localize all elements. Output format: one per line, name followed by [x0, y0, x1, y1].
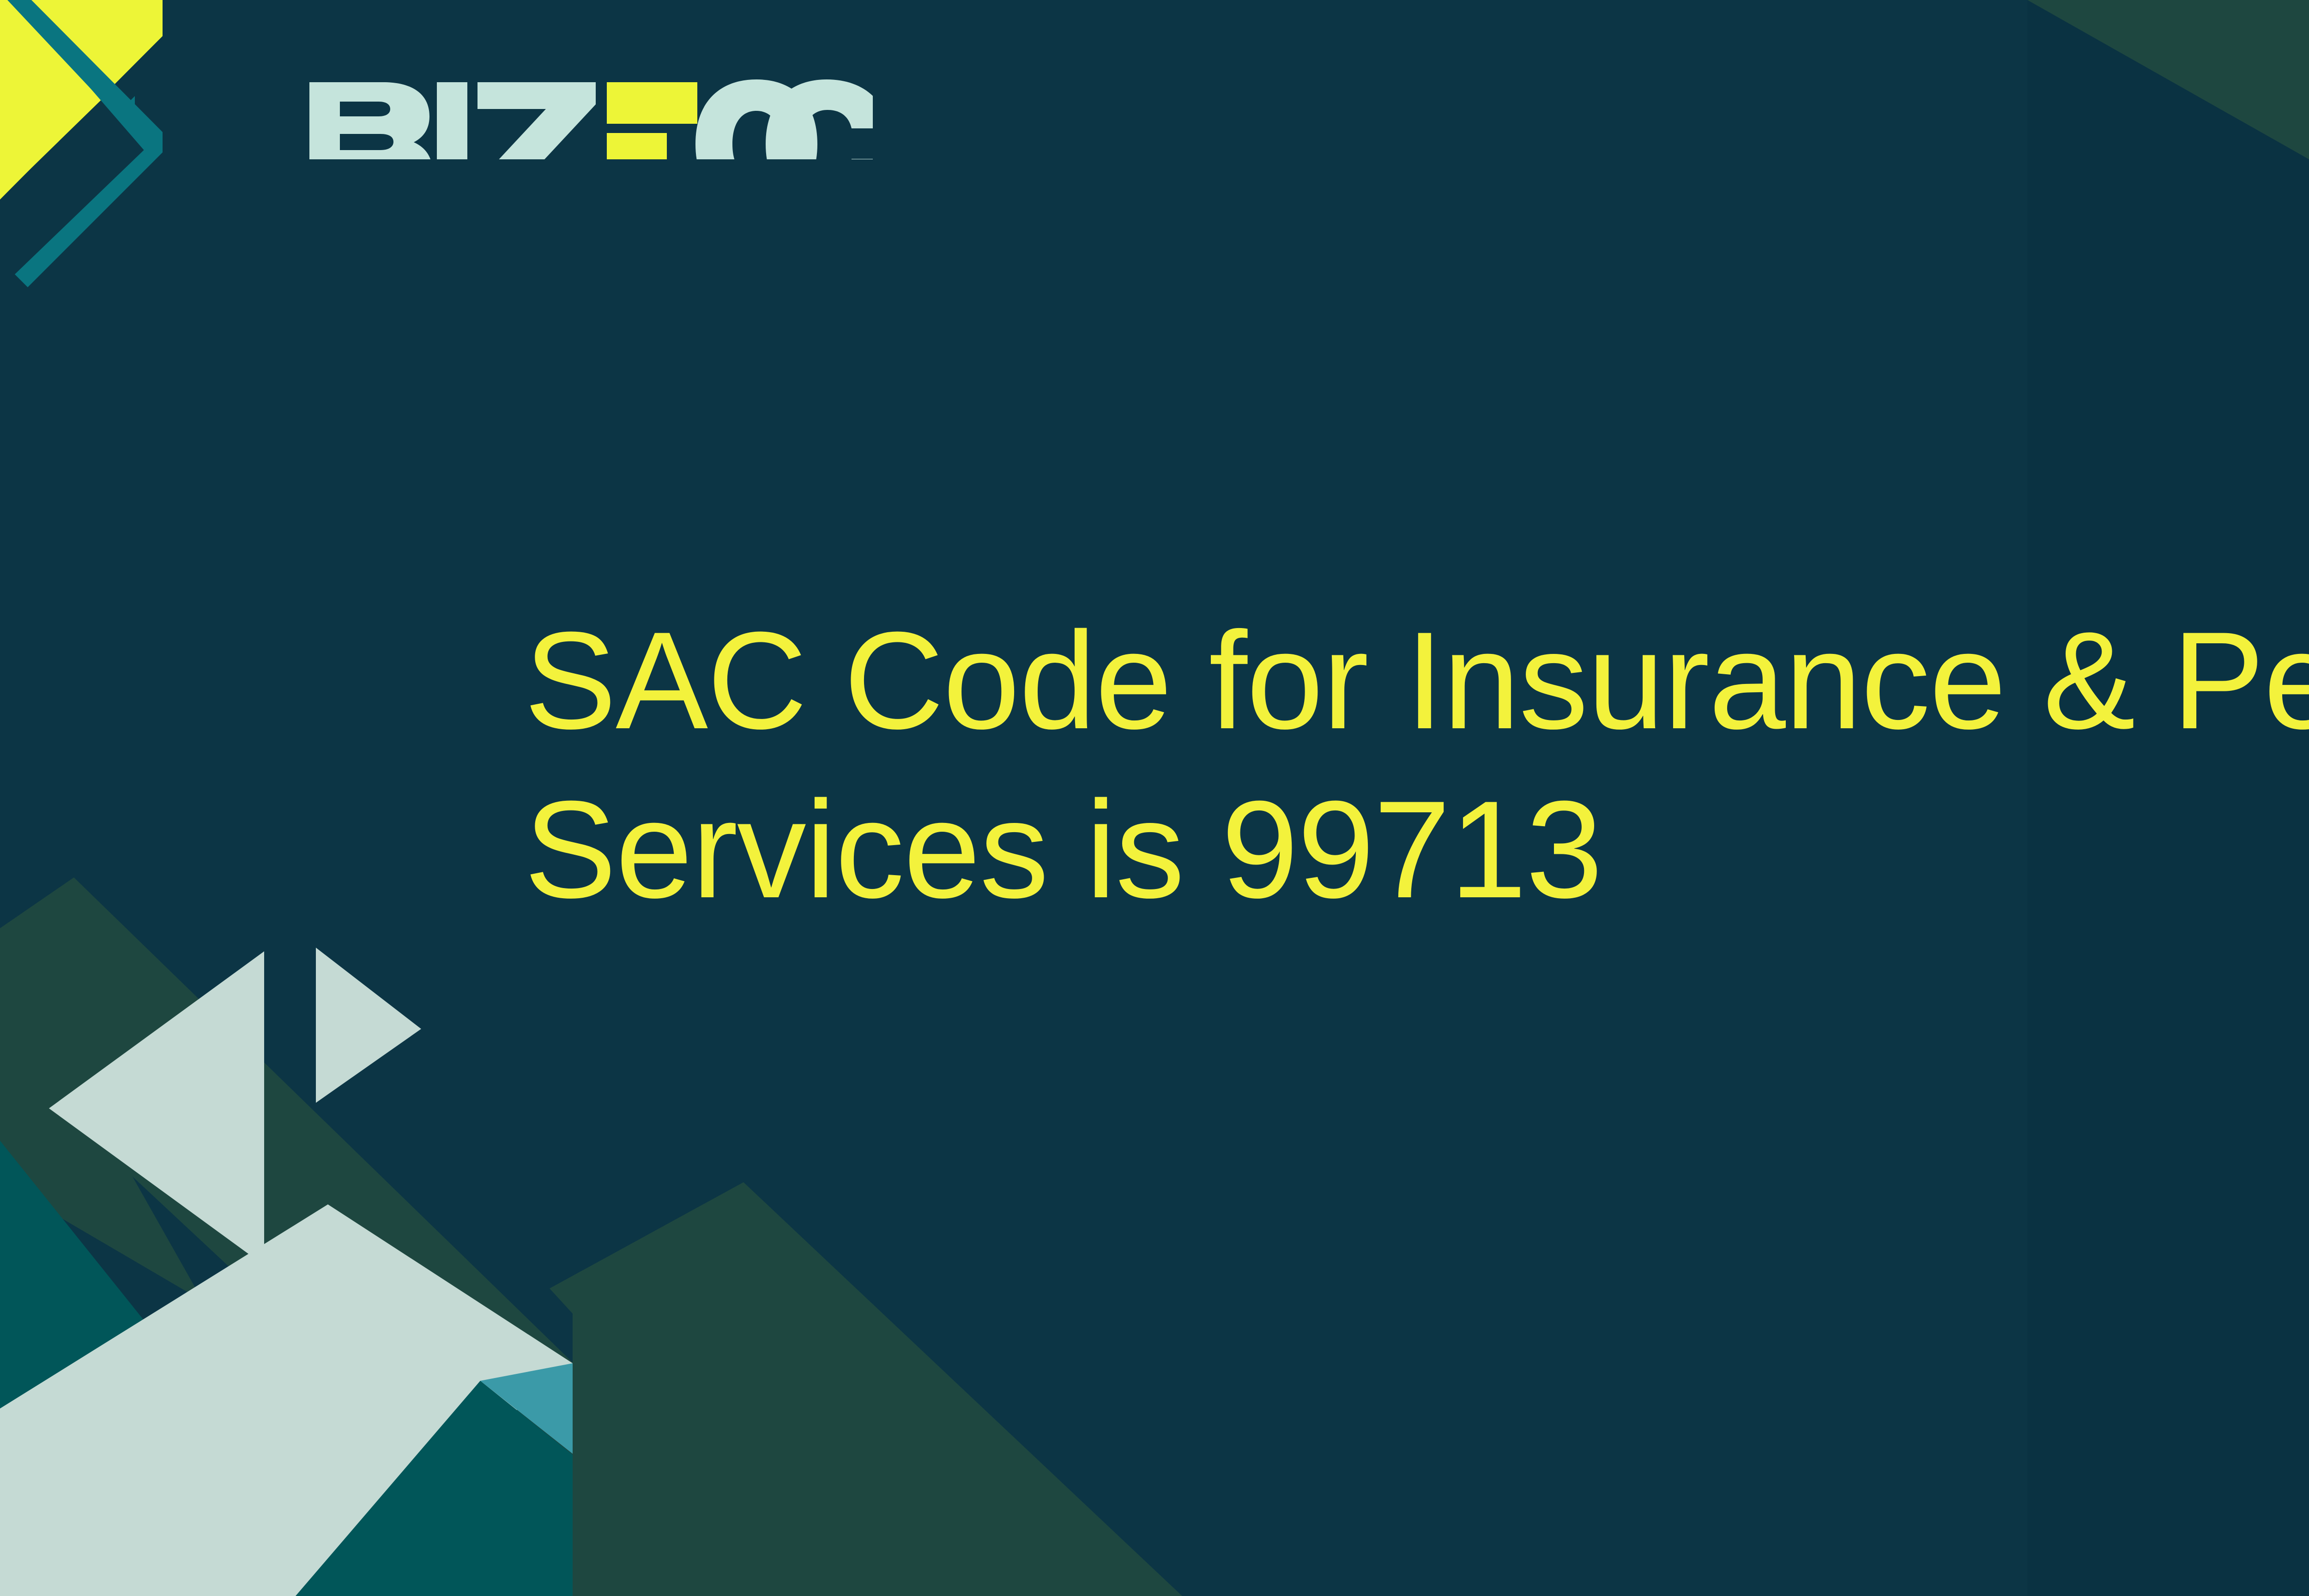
logo-letter-i	[437, 82, 467, 159]
page-title: SAC Code for Insurance & Pension Service…	[524, 596, 2309, 934]
brand-logo[interactable]	[305, 79, 873, 159]
bizfoc-logo-svg	[305, 79, 873, 159]
logo-letter-b	[309, 82, 432, 159]
banner-root: SAC Code for Insurance & Pension Service…	[0, 0, 2309, 1596]
f-bars-icon	[607, 82, 697, 159]
logo-letter-z	[477, 82, 598, 159]
